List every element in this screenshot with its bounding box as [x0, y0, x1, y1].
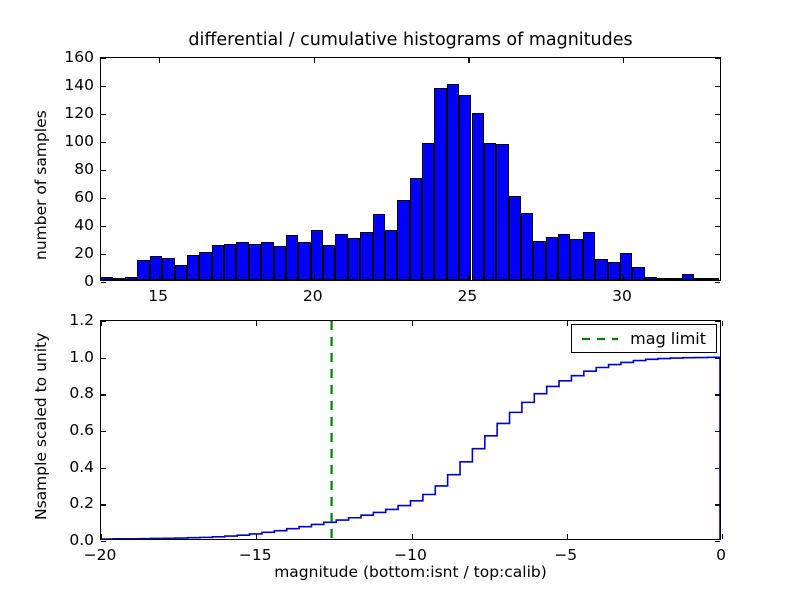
histogram-bar [472, 113, 484, 280]
histogram-bar [224, 244, 236, 280]
histogram-plot-area [101, 58, 720, 280]
x-tick-mark [623, 275, 624, 280]
histogram-bar [669, 278, 681, 280]
y-tick-label: 0.4 [50, 458, 94, 476]
histogram-bar [595, 259, 607, 280]
histogram-bar [373, 214, 385, 280]
histogram-bar [274, 246, 286, 280]
y-tick-mark [101, 282, 106, 283]
y-tick-label: 100 [50, 132, 94, 150]
histogram-bar [694, 278, 706, 280]
x-tick-label: 0 [716, 546, 726, 564]
y-tick-mark [101, 468, 106, 469]
histogram-bar [570, 239, 582, 280]
x-tick-mark [468, 275, 469, 280]
y-tick-mark-right [715, 142, 720, 143]
histogram-bar [348, 238, 360, 280]
histogram-bar [410, 178, 422, 280]
histogram-bar [298, 242, 310, 280]
legend-box[interactable]: mag limit [571, 324, 717, 353]
y-tick-label: 0.6 [50, 421, 94, 439]
histogram-bar [496, 144, 508, 280]
histogram-bar [311, 230, 323, 280]
y-tick-mark-right [715, 282, 720, 283]
histogram-bar [459, 95, 471, 280]
x-tick-mark-top [159, 58, 160, 63]
x-tick-mark [256, 534, 257, 539]
histogram-bar [335, 234, 347, 280]
y-tick-mark-right [715, 198, 720, 199]
legend-mag-limit-line-sample [580, 331, 620, 347]
y-tick-mark [101, 254, 106, 255]
y-tick-label: 0.8 [50, 384, 94, 402]
y-tick-mark [101, 358, 106, 359]
y-tick-label: 0 [50, 272, 94, 290]
legend-label-mag-limit: mag limit [630, 329, 706, 348]
cumulative-curve-svg [101, 321, 720, 539]
x-tick-mark-top [314, 58, 315, 63]
x-tick-label: 25 [458, 287, 478, 305]
histogram-bar [360, 232, 372, 280]
bottom-subplot-ylabel: Nsample scaled to unity [32, 333, 50, 520]
x-tick-mark-top [412, 321, 413, 326]
histogram-bar [422, 143, 434, 280]
bottom-subplot-axes: mag limit [100, 320, 721, 540]
x-tick-label: −10 [394, 546, 427, 564]
x-tick-label: 30 [612, 287, 632, 305]
y-tick-mark-right [715, 86, 720, 87]
x-tick-mark [567, 534, 568, 539]
y-tick-mark [101, 86, 106, 87]
y-tick-mark [101, 431, 106, 432]
histogram-bar [521, 213, 533, 280]
y-tick-mark [101, 541, 106, 542]
histogram-bar [632, 267, 644, 280]
x-tick-label: 20 [303, 287, 323, 305]
histogram-bar [261, 242, 273, 280]
histogram-bar [137, 260, 149, 280]
histogram-bar [175, 265, 187, 280]
y-tick-label: 120 [50, 104, 94, 122]
y-tick-mark [101, 142, 106, 143]
histogram-bar [101, 277, 113, 280]
y-tick-mark [101, 504, 106, 505]
matplotlib-figure: differential / cumulative histograms of … [0, 0, 800, 600]
y-tick-label: 160 [50, 48, 94, 66]
x-tick-mark-top [256, 321, 257, 326]
x-tick-mark [314, 275, 315, 280]
y-tick-label: 1.2 [50, 311, 94, 329]
cumulative-plot-area [101, 321, 720, 539]
histogram-bar [509, 196, 521, 280]
x-tick-mark-top [623, 58, 624, 63]
y-tick-label: 0.0 [50, 531, 94, 549]
y-tick-mark-right [715, 394, 720, 395]
y-tick-mark [101, 58, 106, 59]
y-tick-mark-right [715, 114, 720, 115]
y-tick-mark [101, 226, 106, 227]
histogram-bar [707, 278, 719, 280]
histogram-bar [583, 232, 595, 280]
y-tick-mark [101, 170, 106, 171]
histogram-bar [657, 278, 669, 280]
histogram-bar [323, 245, 335, 280]
y-tick-mark [101, 114, 106, 115]
x-tick-label: 15 [148, 287, 168, 305]
histogram-bar [125, 277, 137, 280]
y-tick-mark [101, 394, 106, 395]
histogram-bar [236, 242, 248, 280]
x-tick-mark [412, 534, 413, 539]
histogram-bar [150, 256, 162, 280]
x-tick-mark-top [722, 321, 723, 326]
x-tick-label: −5 [554, 546, 577, 564]
histogram-bar [533, 241, 545, 280]
y-tick-label: 80 [50, 160, 94, 178]
histogram-bar [397, 200, 409, 280]
y-tick-mark-right [715, 504, 720, 505]
histogram-bar [385, 230, 397, 280]
y-tick-mark-right [715, 431, 720, 432]
histogram-bar [113, 278, 125, 280]
y-tick-mark-right [715, 358, 720, 359]
y-tick-label: 20 [50, 244, 94, 262]
y-tick-mark-right [715, 321, 720, 322]
y-tick-mark-right [715, 226, 720, 227]
y-tick-label: 1.0 [50, 348, 94, 366]
y-tick-mark [101, 198, 106, 199]
y-tick-mark-right [715, 254, 720, 255]
histogram-bar [682, 274, 694, 280]
histogram-bar [187, 255, 199, 280]
y-tick-mark [101, 321, 106, 322]
y-tick-mark-right [715, 541, 720, 542]
histogram-bar [546, 237, 558, 280]
y-tick-mark-right [715, 468, 720, 469]
top-subplot-axes [100, 57, 721, 281]
x-tick-mark [159, 275, 160, 280]
histogram-bar [286, 235, 298, 280]
top-subplot-ylabel: number of samples [32, 110, 50, 260]
y-tick-label: 60 [50, 188, 94, 206]
x-tick-mark-top [567, 321, 568, 326]
histogram-bar [620, 253, 632, 280]
x-tick-mark [722, 534, 723, 539]
histogram-bar [162, 258, 174, 280]
cumulative-step-line [101, 357, 720, 539]
figure-title: differential / cumulative histograms of … [100, 30, 721, 50]
y-tick-mark-right [715, 58, 720, 59]
x-tick-mark [101, 534, 102, 539]
histogram-bar [558, 234, 570, 280]
bottom-subplot-xlabel: magnitude (bottom:isnt / top:calib) [100, 563, 721, 581]
x-tick-mark-top [468, 58, 469, 63]
y-tick-mark-right [715, 170, 720, 171]
histogram-bar [199, 252, 211, 280]
x-tick-label: −15 [239, 546, 272, 564]
histogram-bar [447, 84, 459, 280]
y-tick-label: 140 [50, 76, 94, 94]
histogram-bar [484, 143, 496, 280]
histogram-bar [608, 262, 620, 280]
histogram-bar [249, 244, 261, 280]
histogram-bar [645, 277, 657, 280]
histogram-bar [212, 245, 224, 280]
y-tick-label: 40 [50, 216, 94, 234]
y-tick-label: 0.2 [50, 494, 94, 512]
histogram-bar [434, 88, 446, 280]
